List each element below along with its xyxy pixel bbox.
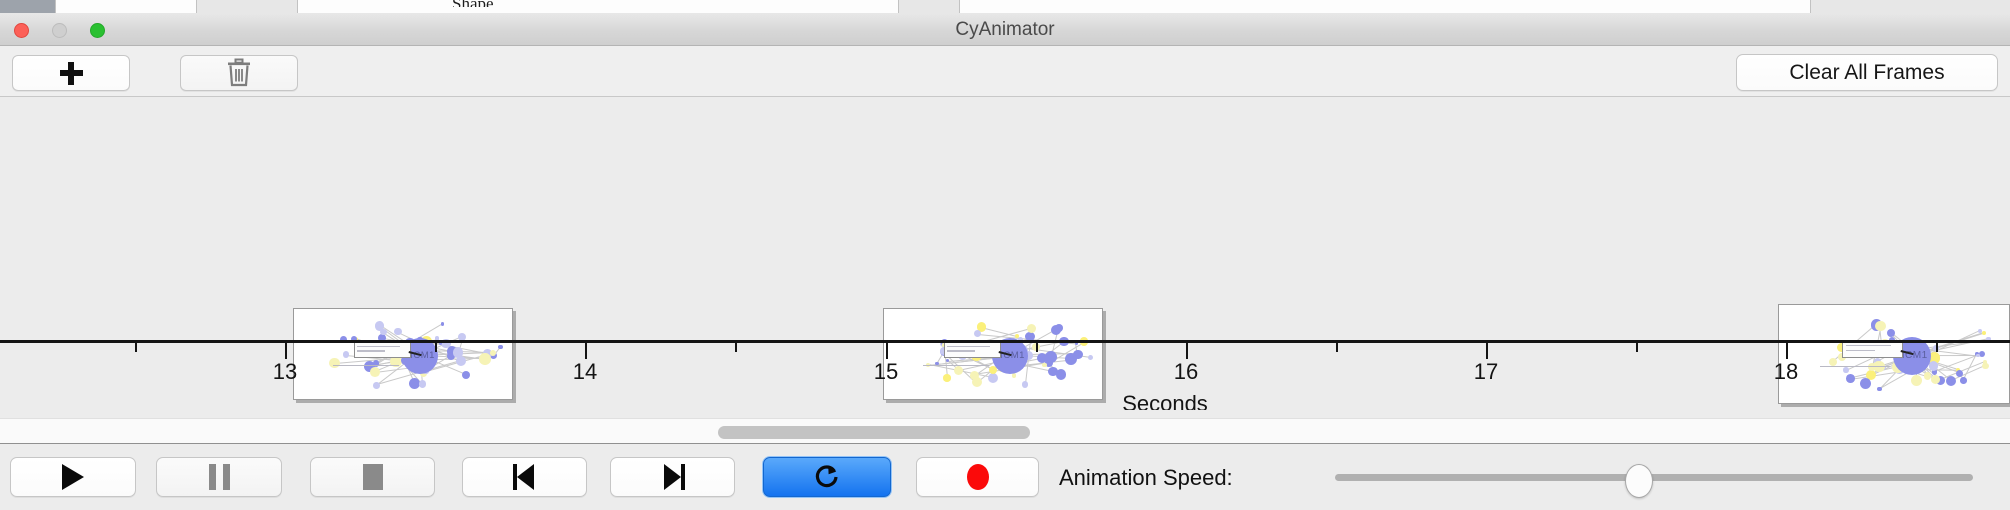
clear-all-frames-button[interactable]: Clear All Frames (1736, 54, 1998, 91)
network-node (1960, 377, 1966, 383)
plus-icon (60, 62, 83, 85)
axis-tick-major (1786, 343, 1788, 359)
loop-button[interactable] (763, 457, 891, 497)
timeline-axis-line (0, 340, 2010, 343)
network-node (1982, 331, 1986, 335)
network-annotation-text-line (1846, 345, 1891, 347)
background-window-label: Shape (452, 0, 494, 7)
network-node (1843, 367, 1848, 372)
background-window-chip (197, 0, 298, 13)
axis-tick-minor (1036, 343, 1038, 352)
network-node (380, 329, 387, 336)
stop-button[interactable] (310, 457, 435, 497)
record-icon (967, 464, 989, 490)
network-node (370, 367, 380, 377)
frame-toolbar: Clear All Frames (0, 46, 2010, 97)
network-node (943, 374, 950, 381)
network-node (1931, 375, 1940, 384)
network-caption-line (923, 365, 989, 367)
previous-frame-button[interactable] (462, 457, 587, 497)
playback-control-bar: Animation Speed: (0, 445, 2010, 510)
axis-tick-major (1186, 343, 1188, 359)
axis-tick-label: 17 (1474, 359, 1498, 385)
axis-tick-label: 13 (273, 359, 297, 385)
axis-tick-minor (435, 343, 437, 352)
network-node (456, 356, 466, 366)
network-node (462, 371, 470, 379)
network-node (1982, 363, 1989, 370)
network-node (373, 382, 379, 388)
stop-icon (363, 464, 383, 490)
window-titlebar: CyAnimator (0, 13, 2010, 46)
network-annotation-text-line (357, 346, 399, 348)
network-node (1056, 369, 1066, 379)
axis-tick-minor (1936, 343, 1938, 352)
network-node (419, 380, 427, 388)
delete-frame-button[interactable] (180, 55, 298, 91)
axis-tick-major (585, 343, 587, 359)
network-node (1946, 376, 1956, 386)
network-node (441, 322, 444, 325)
network-node (970, 371, 979, 380)
play-button[interactable] (10, 457, 136, 497)
network-node (498, 345, 502, 349)
cyanimator-window: Shape CyAnimator Clear All Frames MCM1MC… (0, 0, 2010, 510)
network-node (343, 351, 349, 357)
network-node (490, 350, 496, 356)
axis-tick-label: 18 (1774, 359, 1798, 385)
frame-thumbnail-1[interactable]: MCM1 (293, 308, 513, 400)
network-annotation-text-line (947, 350, 975, 352)
pause-button[interactable] (156, 457, 282, 497)
animation-speed-slider[interactable] (1335, 474, 1973, 481)
network-node (329, 358, 340, 369)
axis-tick-minor (135, 343, 137, 352)
background-window-chip (899, 0, 960, 13)
network-annotation-text-line (1846, 350, 1875, 352)
background-desktop-strip: Shape (0, 0, 2010, 14)
trash-icon (226, 58, 252, 88)
frame-thumbnail-2[interactable]: MCM1 (883, 308, 1103, 400)
network-caption-line (333, 365, 399, 367)
record-button[interactable] (916, 457, 1039, 497)
network-annotation-text-line (947, 346, 989, 348)
network-node (988, 373, 998, 383)
skip-forward-icon (660, 464, 686, 490)
timeline-horizontal-scrollbar[interactable] (0, 418, 2010, 444)
network-node (1829, 358, 1837, 366)
network-node (1976, 354, 1979, 357)
timeline-panel[interactable]: MCM1MCM1MCM1 2131415161718 Seconds (0, 97, 2010, 410)
frame-thumbnail-image: MCM1 (297, 312, 509, 396)
add-frame-button[interactable] (12, 55, 130, 91)
axis-tick-label: 14 (573, 359, 597, 385)
next-frame-button[interactable] (610, 457, 735, 497)
background-window-chip (298, 0, 899, 13)
axis-tick-minor (1636, 343, 1638, 352)
network-node (1027, 324, 1036, 333)
window-title: CyAnimator (0, 13, 2010, 46)
network-node (479, 353, 491, 365)
pause-icon (209, 464, 230, 490)
network-node (1073, 350, 1082, 359)
network-node (1042, 363, 1046, 367)
axis-tick-major (285, 343, 287, 359)
network-node (954, 366, 963, 375)
animation-speed-slider-thumb[interactable] (1625, 464, 1653, 498)
background-window-chip (0, 0, 56, 13)
axis-tick-minor (1336, 343, 1338, 352)
play-icon (62, 464, 84, 490)
background-window-chip (56, 0, 197, 13)
skip-back-icon (512, 464, 538, 490)
network-node (1022, 381, 1029, 388)
frame-thumbnail-image: MCM1 (1782, 308, 2006, 400)
frame-thumbnail-3[interactable]: MCM1 (1778, 304, 2010, 404)
scrollbar-thumb[interactable] (718, 426, 1030, 439)
network-node (1012, 373, 1017, 378)
network-node (1924, 372, 1931, 379)
frame-thumbnail-image: MCM1 (887, 312, 1099, 396)
axis-tick-minor (735, 343, 737, 352)
loop-icon (812, 462, 842, 492)
network-node (1846, 374, 1855, 383)
axis-title-label: Seconds (1122, 391, 1208, 410)
axis-title: Seconds (0, 391, 2010, 410)
network-node (1911, 375, 1922, 386)
network-node (1875, 321, 1885, 331)
axis-tick-label: 15 (874, 359, 898, 385)
axis-tick-major (886, 343, 888, 359)
animation-speed-label: Animation Speed: (1059, 445, 1233, 510)
background-window-chip (960, 0, 1811, 13)
network-node (974, 330, 981, 337)
network-caption-line (1820, 366, 1889, 368)
network-annotation-text-line (357, 350, 385, 352)
network-node (1860, 378, 1871, 389)
network-node (1055, 324, 1063, 332)
axis-tick-major (1486, 343, 1488, 359)
axis-tick-label: 16 (1174, 359, 1198, 385)
network-node (1088, 355, 1093, 360)
background-window-chip (1811, 0, 2010, 13)
network-node (453, 347, 463, 357)
